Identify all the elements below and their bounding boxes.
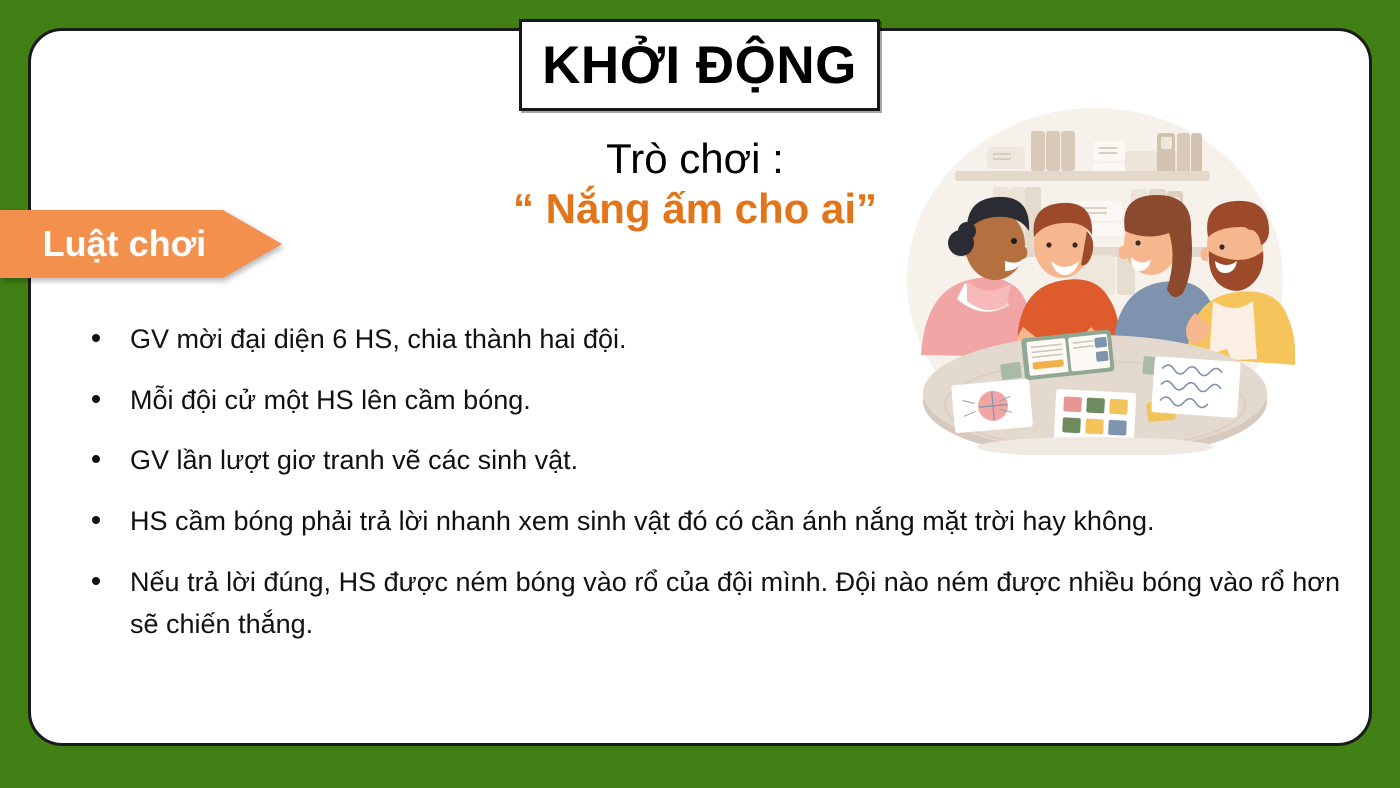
list-item: Nếu trả lời đúng, HS được ném bóng vào r… bbox=[78, 561, 1340, 646]
game-name: “ Nắng ấm cho ai” bbox=[430, 184, 960, 234]
slide-title-box: KHỞI ĐỘNG bbox=[519, 19, 880, 111]
list-item: GV lần lượt giơ tranh vẽ các sinh vật. bbox=[78, 439, 1340, 482]
slide-root: KHỞI ĐỘNG Luật chơi Trò chơi : “ Nắng ấm… bbox=[0, 0, 1400, 788]
page-title: KHỞI ĐỘNG bbox=[542, 39, 857, 92]
game-subtitle: Trò chơi : bbox=[430, 134, 960, 184]
game-heading: Trò chơi : “ Nắng ấm cho ai” bbox=[430, 134, 960, 234]
rules-list: GV mời đại diện 6 HS, chia thành hai đội… bbox=[78, 318, 1340, 646]
arrow-banner-label: Luật chơi bbox=[0, 210, 223, 278]
list-item: Mỗi đội cử một HS lên cầm bóng. bbox=[78, 379, 1340, 422]
rules-arrow-banner: Luật chơi bbox=[0, 210, 282, 278]
list-item: HS cầm bóng phải trả lời nhanh xem sinh … bbox=[78, 500, 1340, 543]
list-item: GV mời đại diện 6 HS, chia thành hai đội… bbox=[78, 318, 1340, 361]
